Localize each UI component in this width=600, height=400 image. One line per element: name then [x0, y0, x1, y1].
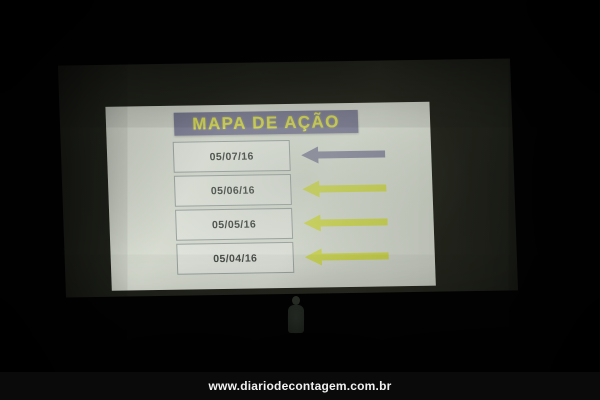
- date-box: 05/05/16: [175, 208, 293, 241]
- action-row: 05/06/16: [174, 172, 415, 208]
- date-box: 05/07/16: [173, 140, 291, 173]
- arrow-left-yellow-icon: [303, 213, 388, 231]
- date-box: 05/04/16: [176, 242, 294, 275]
- presenter-body: [288, 305, 304, 333]
- projected-slide: MAPA DE AÇÃO 05/07/16 05/06/16: [105, 102, 435, 291]
- arrow-left-yellow-icon: [304, 247, 389, 265]
- arrow-left-yellow-icon: [302, 179, 387, 197]
- projection-screen: MAPA DE AÇÃO 05/07/16 05/06/16: [58, 59, 518, 298]
- slide-title: MAPA DE AÇÃO: [192, 112, 340, 134]
- watermark-text: www.diariodecontagem.com.br: [209, 379, 392, 393]
- action-row: 05/04/16: [176, 240, 417, 276]
- action-map-rows: 05/07/16 05/06/16: [173, 138, 418, 278]
- date-label: 05/05/16: [212, 218, 256, 231]
- photo-scene: MAPA DE AÇÃO 05/07/16 05/06/16: [0, 0, 600, 400]
- arrow-left-gray-icon: [301, 145, 386, 163]
- date-box: 05/06/16: [174, 174, 292, 207]
- presenter-head: [292, 296, 300, 305]
- action-row: 05/05/16: [175, 206, 416, 242]
- action-row: 05/07/16: [173, 138, 414, 174]
- presenter-silhouette: [286, 296, 306, 336]
- watermark-bar: www.diariodecontagem.com.br: [0, 372, 600, 400]
- date-label: 05/06/16: [211, 184, 255, 197]
- date-label: 05/07/16: [209, 150, 253, 163]
- slide-title-banner: MAPA DE AÇÃO: [174, 110, 359, 136]
- date-label: 05/04/16: [213, 252, 257, 265]
